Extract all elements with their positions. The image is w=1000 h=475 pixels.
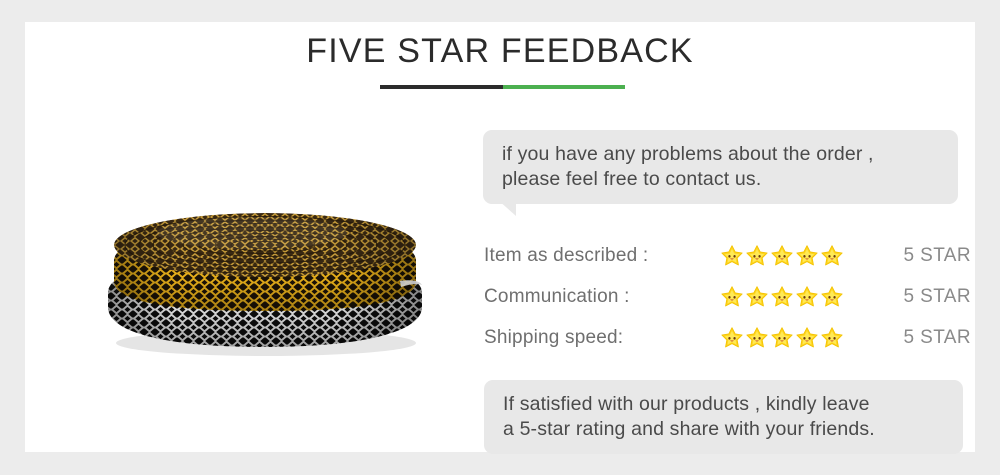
star-rating-shipping-speed [720,326,844,350]
star-icon [770,285,794,309]
content-panel: FIVE STAR FEEDBACK [25,22,975,452]
rating-label-item-as-described: Item as described : [484,245,648,267]
star-icon [720,285,744,309]
coiled-shoelaces-photo [100,197,430,357]
star-rating-communication [720,285,844,309]
review-request-line-2: a 5-star rating and share with your frie… [503,417,945,442]
star-icon [720,326,744,350]
star-icon [770,326,794,350]
rating-row: Communication : [480,276,975,317]
rating-row: Shipping speed: [480,317,975,358]
feedback-column: if you have any problems about the order… [480,130,975,440]
star-icon [770,244,794,268]
review-request-bubble: If satisfied with our products , kindly … [484,380,963,454]
rating-value-shipping-speed: 5 STAR [903,327,971,349]
star-rating-item-as-described [720,244,844,268]
product-figure [100,197,430,357]
feedback-banner: FIVE STAR FEEDBACK [0,0,1000,475]
rating-label-communication: Communication : [484,286,630,308]
page-title: FIVE STAR FEEDBACK [25,22,975,71]
underline-dark-segment [380,85,503,89]
star-icon [820,244,844,268]
rating-value-communication: 5 STAR [903,286,971,308]
star-icon [820,326,844,350]
rating-row: Item as described : [480,235,975,276]
ratings-list: Item as described : [480,235,975,358]
star-icon [745,326,769,350]
contact-message-bubble: if you have any problems about the order… [483,130,958,204]
contact-message-line-1: if you have any problems about the order… [502,142,940,167]
star-icon [820,285,844,309]
star-icon [795,326,819,350]
rating-label-shipping-speed: Shipping speed: [484,327,623,349]
star-icon [720,244,744,268]
title-underline [380,85,625,89]
header: FIVE STAR FEEDBACK [25,22,975,71]
star-icon [795,244,819,268]
underline-green-segment [503,85,626,89]
star-icon [795,285,819,309]
star-icon [745,285,769,309]
review-request-line-1: If satisfied with our products , kindly … [503,392,945,417]
star-icon [745,244,769,268]
rating-value-item-as-described: 5 STAR [903,245,971,267]
bubble-tail [488,200,516,216]
contact-message-line-2: please feel free to contact us. [502,167,940,192]
